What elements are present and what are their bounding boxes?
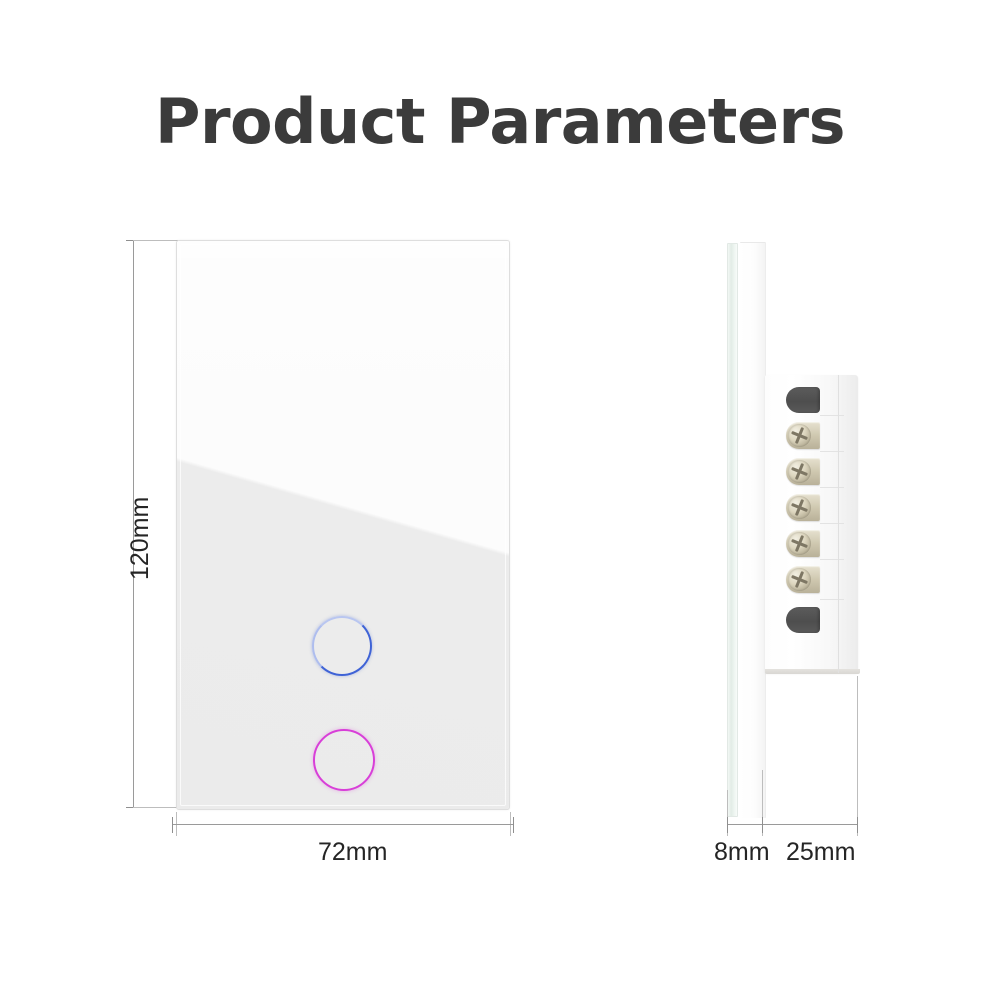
terminal-slot-top [786,387,820,413]
phillips-screw-icon [788,496,811,519]
phillips-screw-icon [788,424,811,447]
depth-dimension-line [762,824,858,825]
product-parameters-page: Product Parameters 120mm 72mm [0,0,1000,1000]
side-view-assembly [720,236,880,836]
terminal-shelf [820,487,844,488]
width-dimension-line [172,824,514,825]
height-dimension-label: 120mm [126,497,155,580]
phillips-screw-icon [788,568,811,591]
depth-dimension-label: 25mm [786,838,855,867]
terminal-shelf [820,599,844,600]
height-extension-line-top [133,240,178,241]
depth-extension-line-right [857,676,858,836]
page-title: Product Parameters [0,85,1000,158]
terminal-screw-5 [786,566,820,593]
height-extension-line-bottom [133,807,178,808]
front-panel-glass [176,240,510,810]
rear-electronics-module [765,375,858,673]
faceplate-body-profile [740,242,766,818]
terminal-shelf [820,415,844,416]
touch-button-2-ring[interactable] [313,729,375,791]
terminal-screw-3 [786,494,820,521]
width-dimension-tick-right [513,817,514,833]
glass-panel-edge [727,243,738,817]
terminal-shelf [820,559,844,560]
touch-button-1-ring[interactable] [312,616,372,676]
terminal-shelf [820,451,844,452]
phillips-screw-icon [788,532,811,555]
terminal-screw-2 [786,458,820,485]
width-dimension-label: 72mm [318,838,387,867]
terminal-shelf [820,523,844,524]
thickness-dimension-tick-right [762,817,763,833]
terminal-screw-4 [786,530,820,557]
rear-module-seam [838,375,839,673]
phillips-screw-icon [788,460,811,483]
thickness-dimension-label: 8mm [714,838,770,867]
terminal-screw-1 [786,422,820,449]
terminal-slot-bottom [786,607,820,633]
panel-inner-bevel [180,244,506,806]
width-dimension-tick-left [172,817,173,833]
depth-dimension-tick-right [857,817,858,833]
thickness-dimension-line [727,824,763,825]
thickness-dimension-tick-left [727,817,728,833]
rear-module-bottom-lip [765,669,860,674]
